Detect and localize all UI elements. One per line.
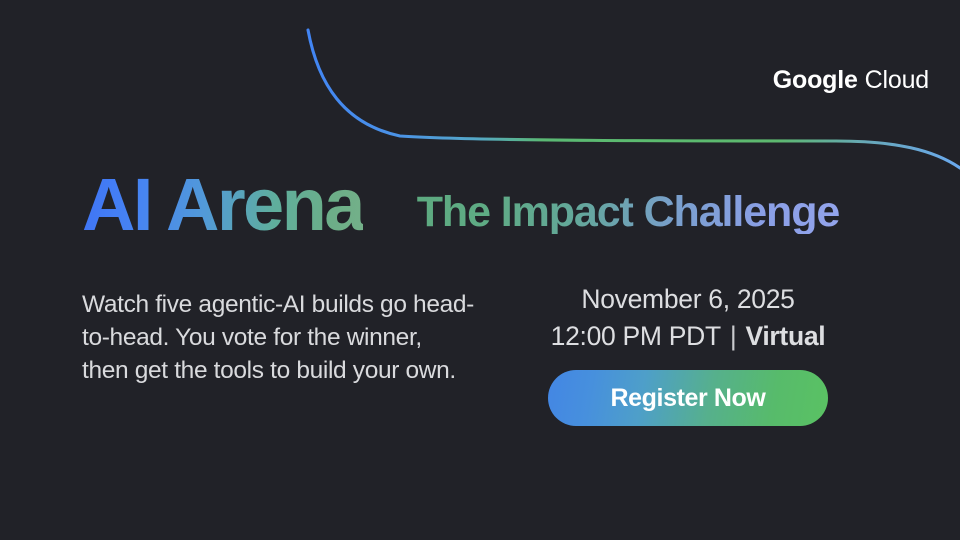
event-description: Watch five agentic-AI builds go head-to-… <box>82 288 474 387</box>
brand-cloud-text: Cloud <box>865 68 929 93</box>
event-time: 12:00 PM PDT <box>551 320 721 353</box>
page-subtitle: The Impact Challenge <box>417 191 839 234</box>
page-title: AI Arena <box>82 168 363 242</box>
meta-separator: | <box>730 320 737 353</box>
promo-banner: Google Cloud AI Arena The Impact Challen… <box>0 0 960 540</box>
cta-container: Register Now <box>548 370 828 426</box>
event-date: November 6, 2025 <box>548 283 828 316</box>
event-time-format: 12:00 PM PDT | Virtual <box>548 320 828 353</box>
brand-google-text: Google <box>773 68 858 93</box>
register-now-button[interactable]: Register Now <box>548 370 828 426</box>
event-info-block: November 6, 2025 12:00 PM PDT | Virtual <box>548 283 828 353</box>
headline-row: AI Arena The Impact Challenge <box>82 168 839 242</box>
event-format-badge: Virtual <box>745 320 825 353</box>
google-cloud-logo: Google Cloud <box>773 68 929 93</box>
